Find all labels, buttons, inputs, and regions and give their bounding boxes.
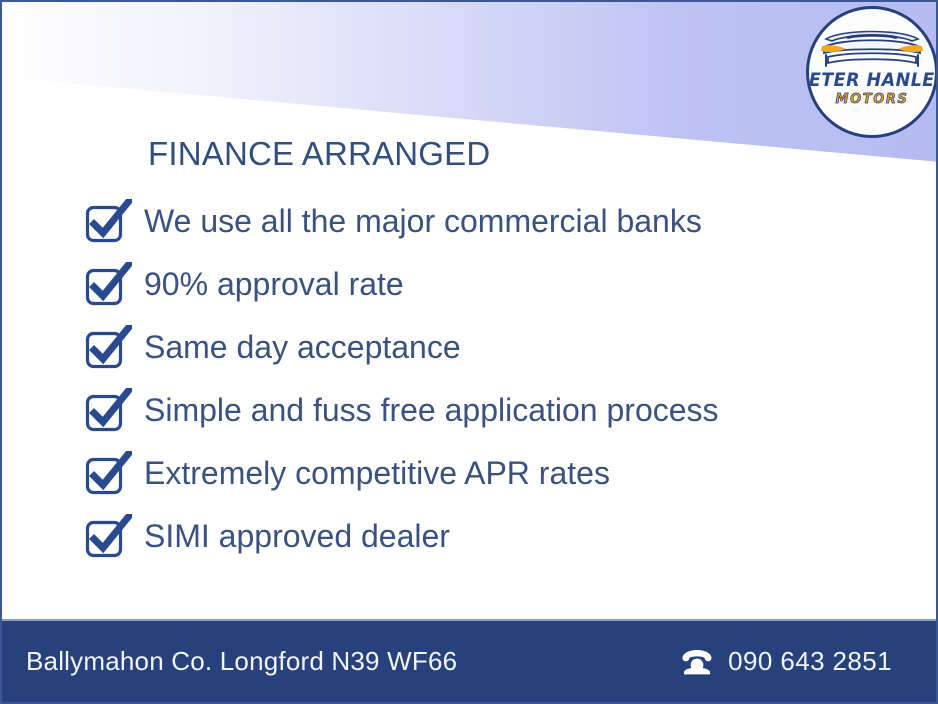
telephone-icon bbox=[680, 648, 714, 676]
checkbox-checked-icon bbox=[84, 325, 132, 371]
page-title: FINANCE ARRANGED bbox=[148, 135, 490, 173]
logo-subtitle: MOTORS bbox=[836, 93, 909, 106]
list-item: Simple and fuss free application process bbox=[84, 379, 884, 442]
footer-address: Ballymahon Co. Longford N39 WF66 bbox=[26, 646, 457, 677]
checkbox-checked-icon bbox=[84, 199, 132, 245]
car-front-icon bbox=[816, 22, 928, 70]
list-item-label: Simple and fuss free application process bbox=[144, 394, 719, 428]
list-item-label: SIMI approved dealer bbox=[144, 520, 450, 554]
list-item: Same day acceptance bbox=[84, 316, 884, 379]
list-item: Extremely competitive APR rates bbox=[84, 442, 884, 505]
footer-phone[interactable]: 090 643 2851 bbox=[680, 646, 914, 677]
list-item-label: Extremely competitive APR rates bbox=[144, 457, 610, 491]
advert-poster: PETER HANLEY MOTORS FINANCE ARRANGED We … bbox=[0, 0, 938, 704]
list-item-label: Same day acceptance bbox=[144, 331, 461, 365]
logo-name: PETER HANLEY bbox=[806, 71, 938, 90]
checkbox-checked-icon bbox=[84, 514, 132, 560]
checkbox-checked-icon bbox=[84, 451, 132, 497]
footer-phone-number: 090 643 2851 bbox=[728, 646, 892, 677]
checkbox-checked-icon bbox=[84, 262, 132, 308]
list-item: We use all the major commercial banks bbox=[84, 190, 884, 253]
list-item: 90% approval rate bbox=[84, 253, 884, 316]
checkbox-checked-icon bbox=[84, 388, 132, 434]
list-item-label: We use all the major commercial banks bbox=[144, 205, 702, 239]
feature-list: We use all the major commercial banks 90… bbox=[84, 190, 884, 568]
dealer-logo[interactable]: PETER HANLEY MOTORS bbox=[806, 6, 938, 138]
list-item-label: 90% approval rate bbox=[144, 268, 404, 302]
list-item: SIMI approved dealer bbox=[84, 505, 884, 568]
footer-contact-bar: Ballymahon Co. Longford N39 WF66 090 643… bbox=[2, 619, 938, 702]
